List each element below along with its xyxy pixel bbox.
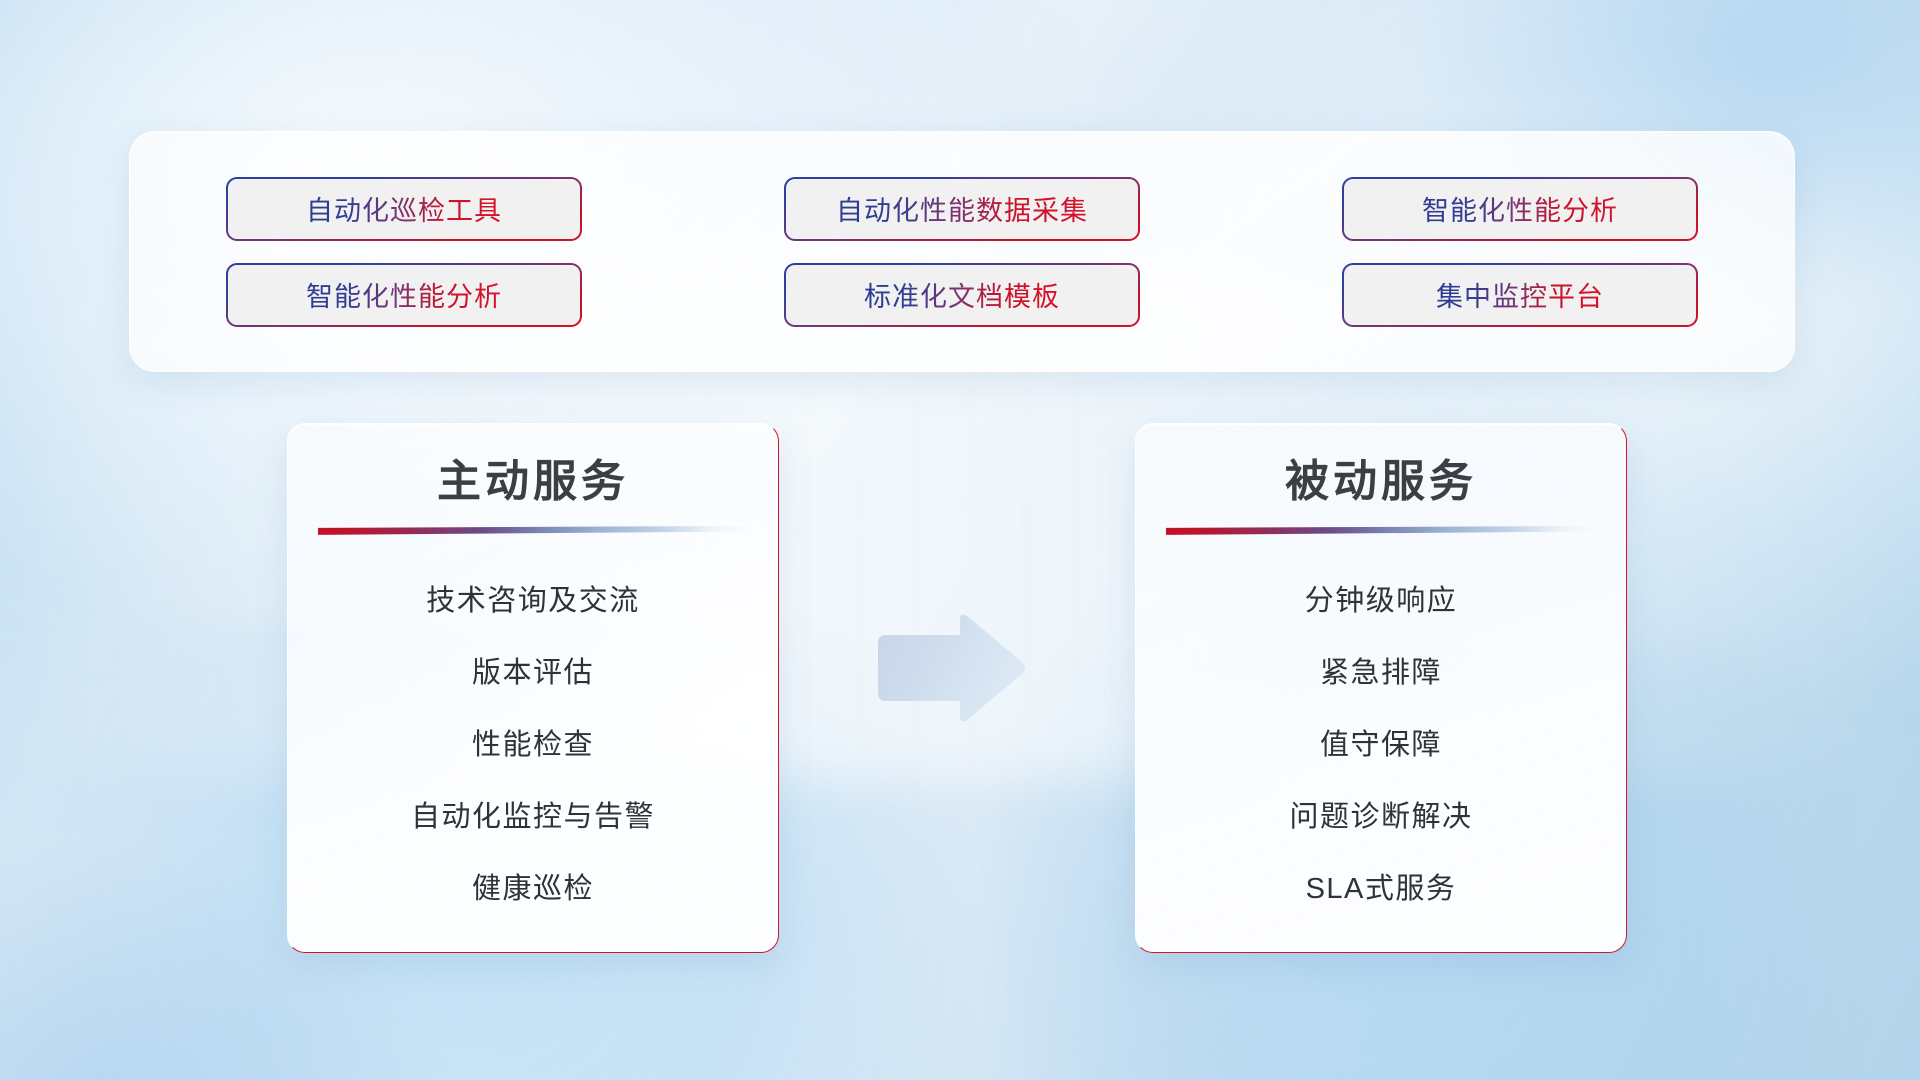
capability-chip-automated-inspection-tool[interactable]: 自动化巡检工具	[226, 177, 582, 241]
list-item[interactable]: SLA式服务	[1136, 853, 1626, 925]
capability-chip-label: 集中监控平台	[1436, 275, 1604, 314]
reactive-service-list: 分钟级响应 紧急排障 值守保障 问题诊断解决 SLA式服务	[1136, 565, 1626, 925]
capability-row-2: 智能化性能分析 标准化文档模板 集中监控平台	[226, 263, 1698, 327]
right-arrow-icon	[872, 612, 1028, 724]
capability-chip-label: 智能化性能分析	[306, 275, 502, 314]
capability-chip-intelligent-performance-analysis[interactable]: 智能化性能分析	[1342, 177, 1698, 241]
capability-chip-standard-document-template[interactable]: 标准化文档模板	[784, 263, 1140, 327]
list-item[interactable]: 自动化监控与告警	[288, 781, 778, 853]
list-item[interactable]: 值守保障	[1136, 709, 1626, 781]
list-item[interactable]: 健康巡检	[288, 853, 778, 925]
list-item[interactable]: 版本评估	[288, 637, 778, 709]
capability-chip-centralized-monitoring-platform[interactable]: 集中监控平台	[1342, 263, 1698, 327]
list-item[interactable]: 紧急排障	[1136, 637, 1626, 709]
capability-panel: 自动化巡检工具 自动化性能数据采集 智能化性能分析 智能化性能分析 标准化文档模…	[129, 131, 1795, 372]
proactive-service-title: 主动服务	[288, 456, 778, 508]
proactive-service-list: 技术咨询及交流 版本评估 性能检查 自动化监控与告警 健康巡检	[288, 565, 778, 925]
capability-chip-label: 自动化性能数据采集	[836, 189, 1088, 228]
reactive-service-card: 被动服务 分钟级响应 紧急排障 值守保障 问题诊断解决 SLA式服务	[1135, 423, 1627, 953]
proactive-service-card: 主动服务 技术咨询及交流 版本评估 性能检查 自动化监控与告警 健康巡检	[287, 423, 779, 953]
list-item[interactable]: 分钟级响应	[1136, 565, 1626, 637]
capability-row-1: 自动化巡检工具 自动化性能数据采集 智能化性能分析	[226, 177, 1698, 241]
list-item[interactable]: 性能检查	[288, 709, 778, 781]
capability-chip-intelligent-performance-analysis-2[interactable]: 智能化性能分析	[226, 263, 582, 327]
capability-chip-label: 标准化文档模板	[864, 275, 1060, 314]
proactive-title-divider	[318, 526, 748, 535]
capability-chip-label: 自动化巡检工具	[306, 189, 502, 228]
capability-chip-label: 智能化性能分析	[1422, 189, 1618, 228]
list-item[interactable]: 问题诊断解决	[1136, 781, 1626, 853]
reactive-title-divider	[1166, 526, 1596, 535]
capability-chip-automated-performance-data-collection[interactable]: 自动化性能数据采集	[784, 177, 1140, 241]
reactive-service-title: 被动服务	[1136, 456, 1626, 508]
list-item[interactable]: 技术咨询及交流	[288, 565, 778, 637]
